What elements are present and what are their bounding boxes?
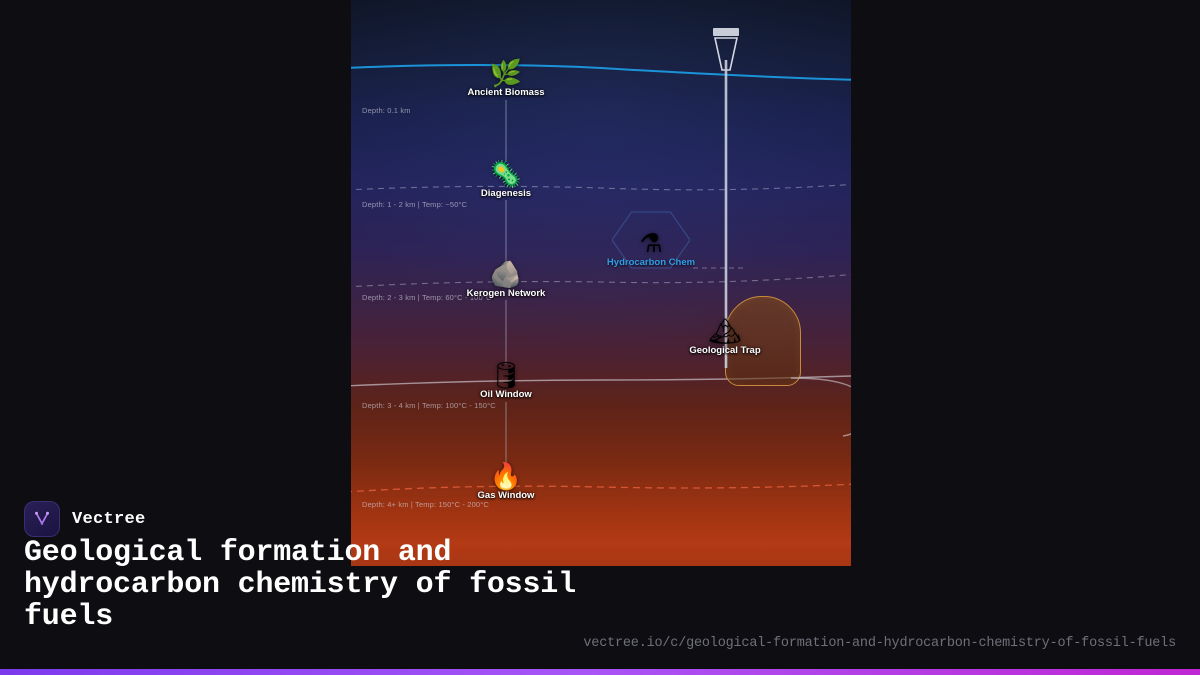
oil-drum-icon: 🛢	[489, 360, 522, 390]
node-diagenesis[interactable]: 🦠 Diagenesis	[421, 159, 591, 199]
page-title: Geological formation and hydrocarbon che…	[24, 537, 624, 633]
microbe-icon: 🦠	[490, 159, 522, 189]
node-geological-trap[interactable]: 🏔 Geological Trap	[640, 316, 810, 356]
vectree-v-logo-icon	[32, 509, 52, 529]
herb-leaf-icon: 🌿	[490, 58, 522, 88]
rock-icon: 🪨	[490, 259, 522, 289]
node-label-hydrocarbon-chem: Hydrocarbon Chem	[607, 257, 695, 268]
node-label-diagenesis: Diagenesis	[481, 188, 531, 199]
poster-footer: Vectree Geological formation and hydroca…	[0, 495, 1200, 675]
depth-label-diagenesis: Depth: 1 - 2 km | Temp: ~50°C	[362, 200, 467, 209]
depth-label-surface: Depth: 0.1 km	[362, 106, 411, 115]
node-label-kerogen-network: Kerogen Network	[467, 288, 546, 299]
brand-name: Vectree	[72, 510, 146, 529]
deep-contour-line	[791, 378, 851, 436]
mountain-icon: 🏔	[708, 316, 741, 346]
lab-flask-icon: ⚗	[639, 228, 662, 258]
poster-root: Depth: 0.1 km Depth: 1 - 2 km | Temp: ~5…	[0, 0, 1200, 675]
node-label-geological-trap: Geological Trap	[689, 345, 760, 356]
accent-bar	[0, 669, 1200, 675]
brand-block: Vectree	[24, 501, 146, 537]
geology-diagram-panel: Depth: 0.1 km Depth: 1 - 2 km | Temp: ~5…	[351, 0, 851, 566]
node-label-oil-window: Oil Window	[480, 389, 532, 400]
depth-label-oil: Depth: 3 - 4 km | Temp: 100°C - 150°C	[362, 401, 496, 410]
site-url: vectree.io/c/geological-formation-and-hy…	[583, 636, 1176, 651]
node-hydrocarbon-chem[interactable]: ⚗ Hydrocarbon Chem	[566, 228, 736, 268]
node-ancient-biomass[interactable]: 🌿 Ancient Biomass	[421, 58, 591, 98]
fire-icon: 🔥	[490, 461, 522, 491]
node-label-ancient-biomass: Ancient Biomass	[467, 87, 544, 98]
node-oil-window[interactable]: 🛢 Oil Window	[421, 360, 591, 400]
vectree-logo	[24, 501, 60, 537]
